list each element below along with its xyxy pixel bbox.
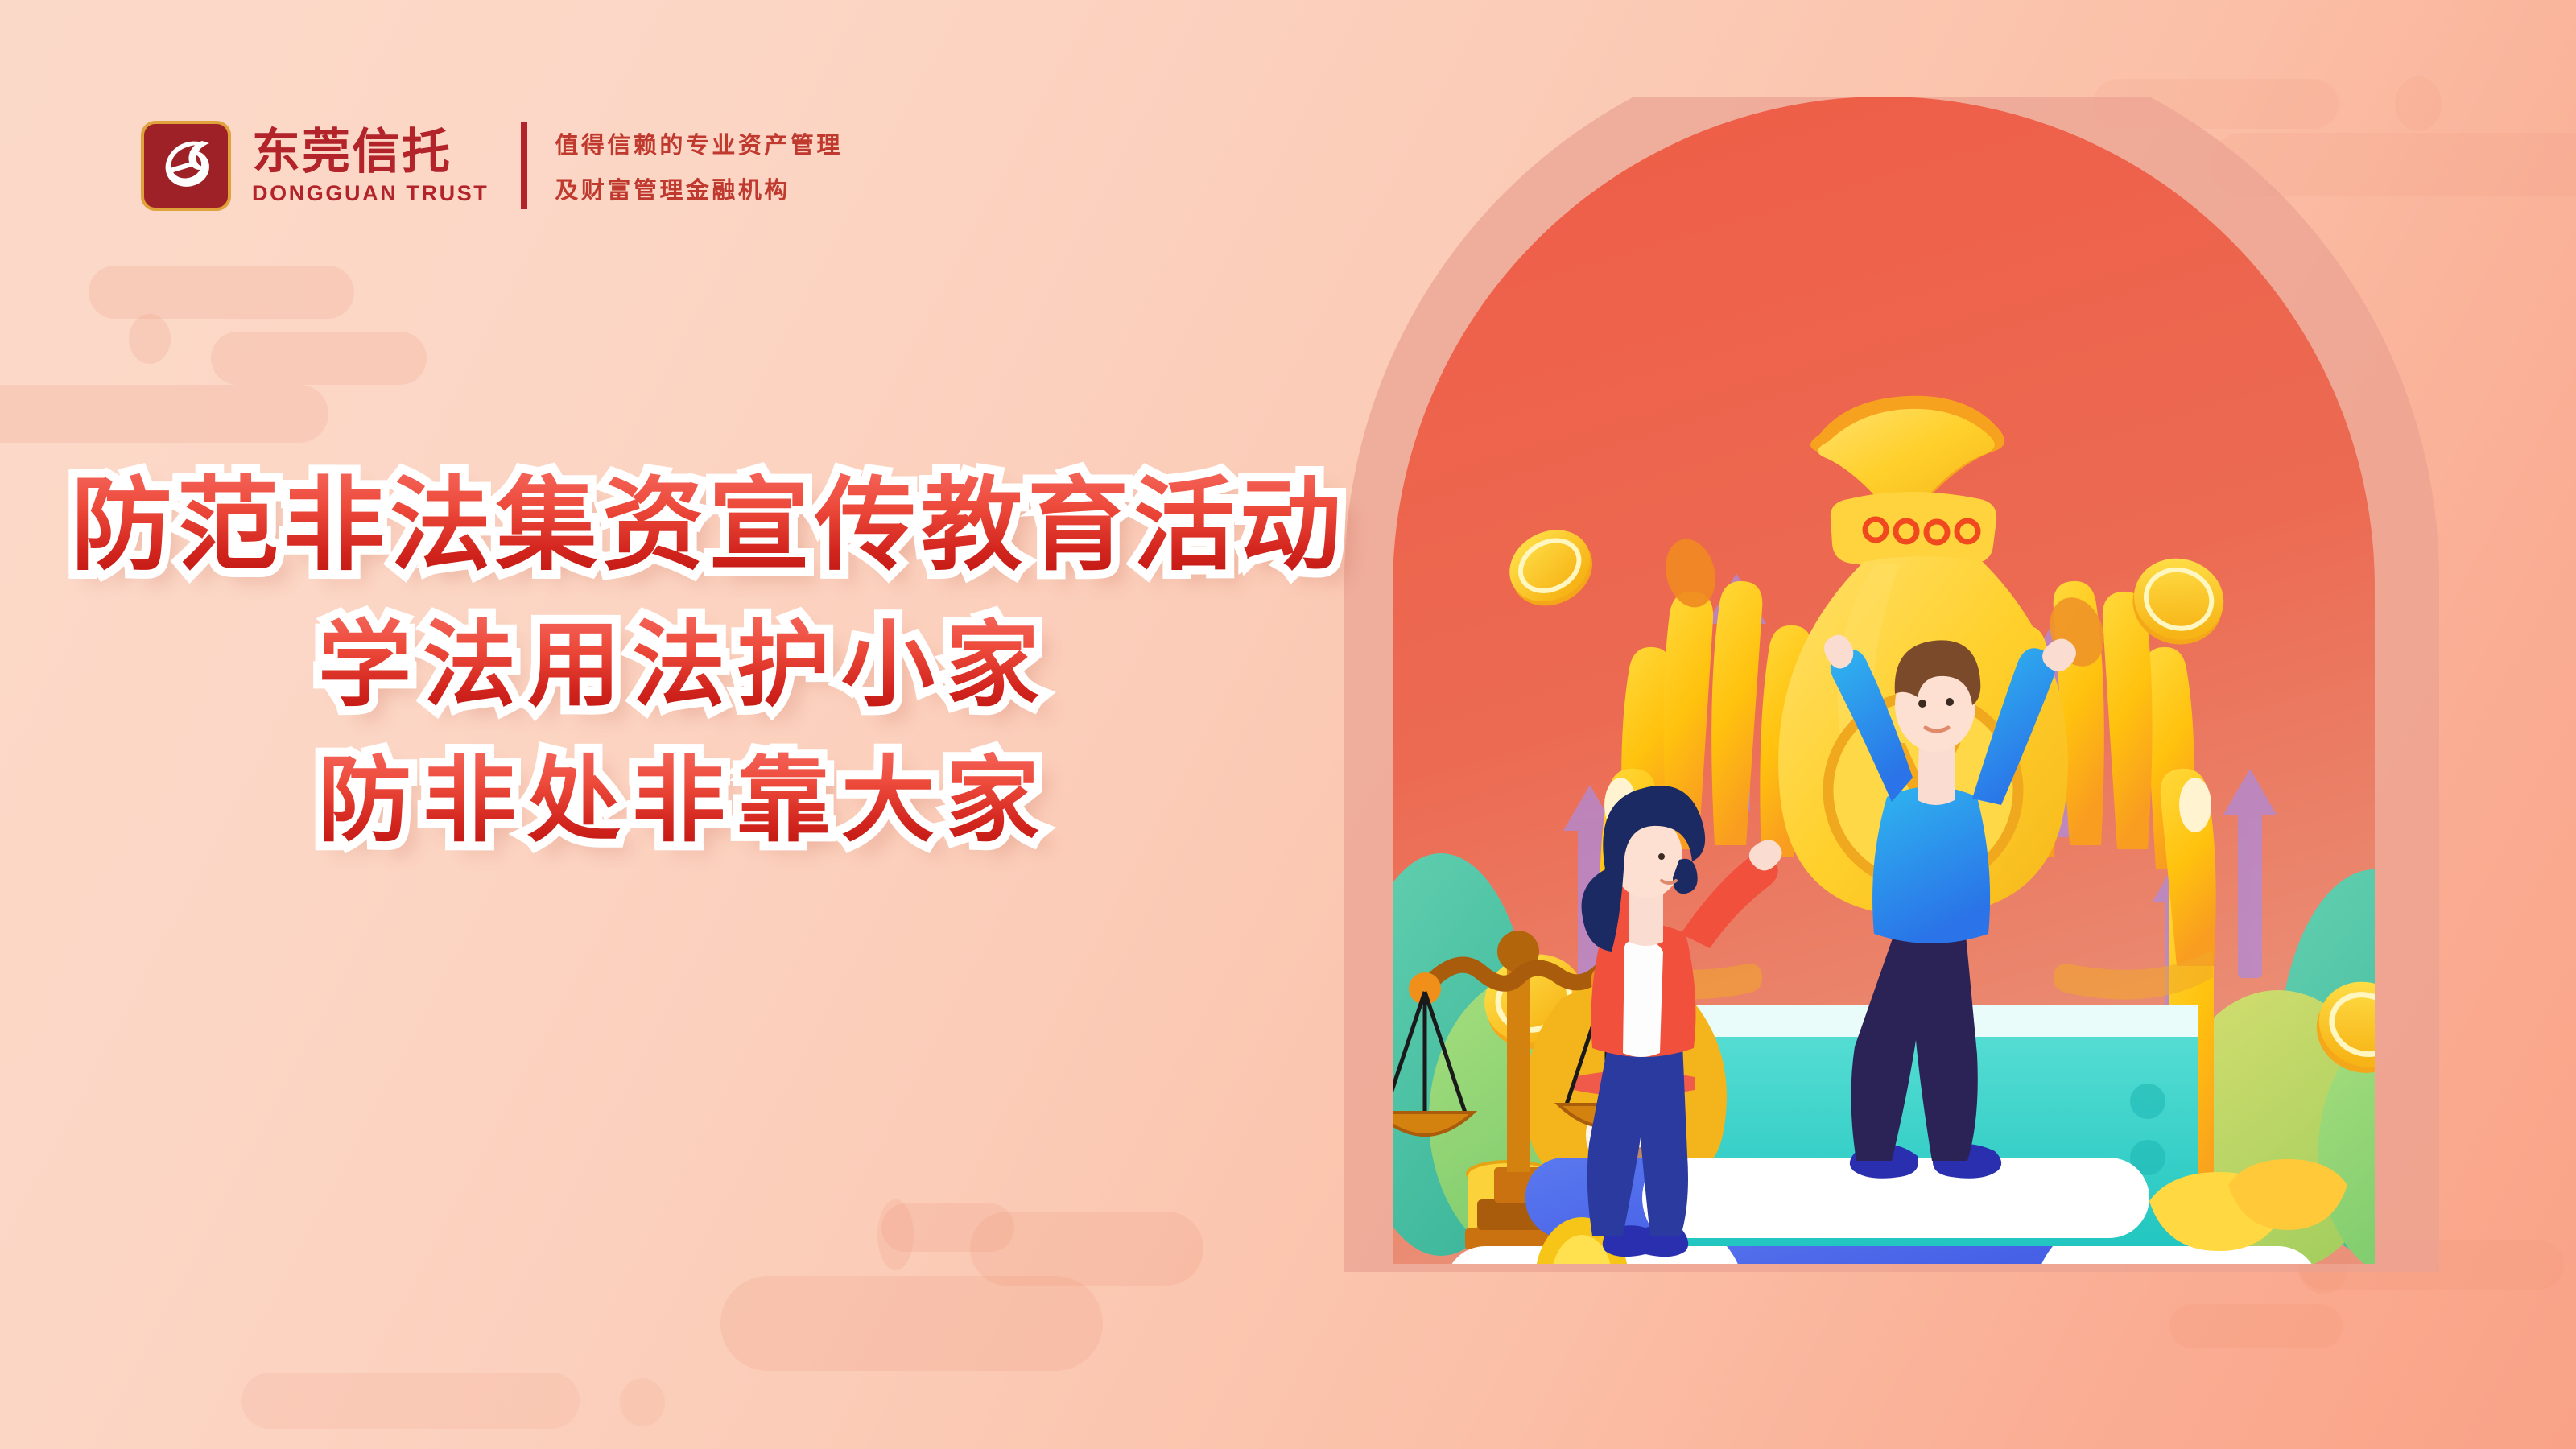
- brand-lockup: 东莞信托 DONGGUAN TRUST 值得信赖的专业资产管理 及财富管理金融机…: [141, 121, 843, 211]
- headline-line-3: 防非处非靠大家 防非处非靠大家: [318, 753, 1368, 847]
- brand-name: 东莞信托 DONGGUAN TRUST: [252, 126, 489, 206]
- headline-line-2-text: 学法用法护小家: [318, 613, 1051, 717]
- deco-dot: [877, 1199, 914, 1270]
- tagline-line-2: 及财富管理金融机构: [555, 171, 843, 205]
- headline-line-1-text: 防范非法集资宣传教育活动: [71, 469, 1346, 582]
- deco-pill: [970, 1212, 1203, 1286]
- dongguan-trust-monogram-icon: [141, 121, 231, 211]
- deco-dot: [620, 1378, 665, 1426]
- deco-pill: [0, 385, 328, 443]
- promo-banner: 东莞信托 DONGGUAN TRUST 值得信赖的专业资产管理 及财富管理金融机…: [0, 0, 2576, 1449]
- deco-pill: [211, 332, 427, 385]
- deco-dot: [129, 314, 171, 364]
- deco-pill: [881, 1203, 1014, 1252]
- headline-line-2: 学法用法护小家 学法用法护小家: [318, 618, 1368, 712]
- headline-line-1: 防范非法集资宣传教育活动 防范非法集资宣传教育活动: [71, 475, 1368, 576]
- deco-pill: [89, 266, 354, 319]
- brand-name-cn: 东莞信托: [252, 126, 489, 177]
- tagline-line-1: 值得信赖的专业资产管理: [555, 126, 843, 160]
- anti-illegal-fundraising-illustration: ¥: [1336, 97, 2512, 1352]
- deco-pill: [720, 1276, 1103, 1371]
- brand-tagline: 值得信赖的专业资产管理 及财富管理金融机构: [555, 126, 843, 205]
- headline-group: 防范非法集资宣传教育活动 防范非法集资宣传教育活动 学法用法护小家 学法用法护小…: [0, 475, 1368, 847]
- headline-line-3-text: 防非处非靠大家: [318, 748, 1051, 852]
- deco-pill: [242, 1373, 580, 1429]
- brand-divider: [521, 122, 527, 209]
- brand-name-en: DONGGUAN TRUST: [252, 181, 489, 206]
